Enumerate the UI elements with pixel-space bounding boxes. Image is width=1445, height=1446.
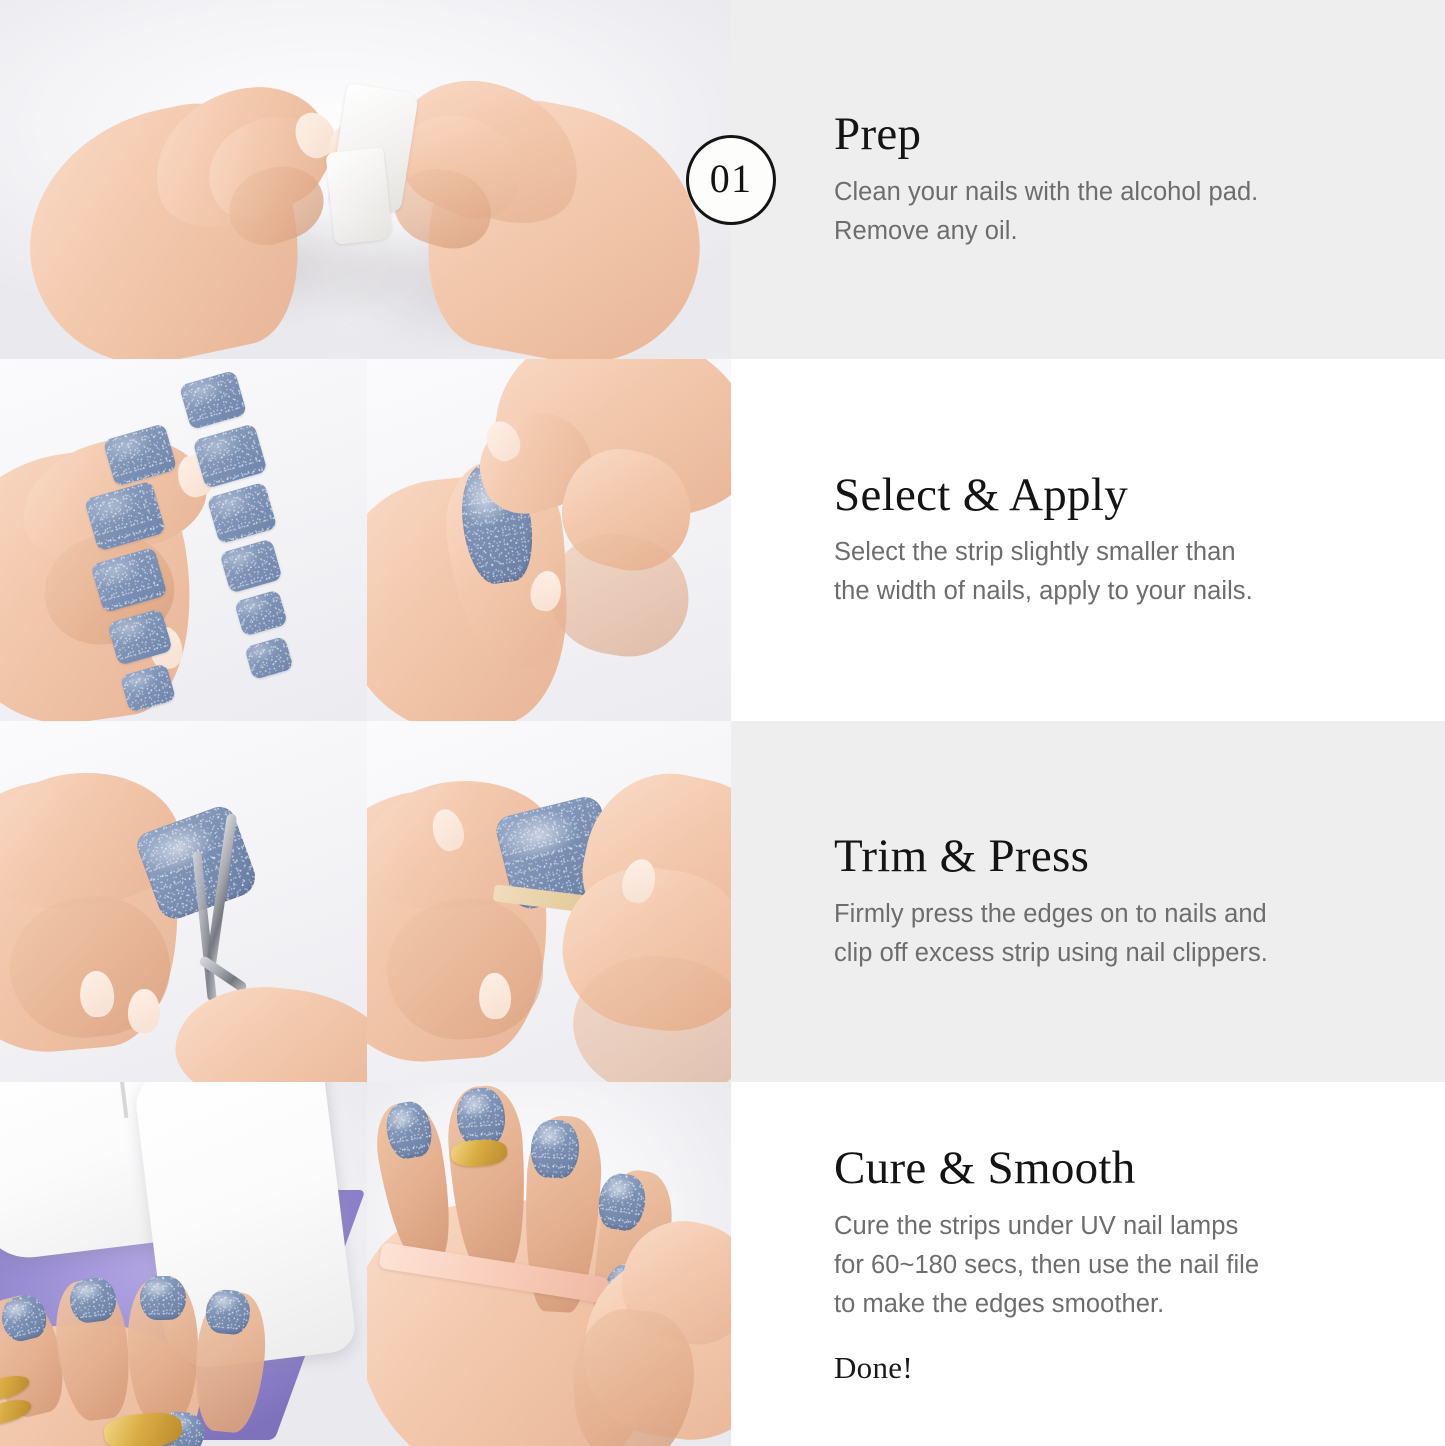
text-column-03: Trim & Press Firmly press the edges on t… <box>731 721 1445 1082</box>
step-description-01: Clean your nails with the alcohol pad. R… <box>834 173 1445 251</box>
step-row-03: 03 Trim & Press Firmly press the edges o… <box>0 721 1445 1082</box>
step-row-01: 01 Prep Clean your nails with the alcoho… <box>0 0 1445 359</box>
photo-nail-file <box>367 1082 731 1446</box>
text-column-02: Select & Apply Select the strip slightly… <box>731 359 1445 721</box>
step-description-02: Select the strip slightly smaller than t… <box>834 533 1445 611</box>
photo-column-02 <box>0 359 731 721</box>
step-row-04: 04 Cure & Smooth Cure the strips under U… <box>0 1082 1445 1446</box>
photo-column-03 <box>0 721 731 1082</box>
step-badge-01: 01 <box>686 135 776 225</box>
photo-press-stick <box>367 721 731 1082</box>
step-title-02: Select & Apply <box>834 469 1445 522</box>
text-column-01: Prep Clean your nails with the alcohol p… <box>731 0 1445 359</box>
step-number-01: 01 <box>710 159 752 199</box>
step-description-03: Firmly press the edges on to nails and c… <box>834 895 1445 973</box>
photo-hands-alcohol-pad <box>0 0 731 359</box>
step-title-03: Trim & Press <box>834 830 1445 883</box>
step-title-01: Prep <box>834 108 1445 161</box>
photo-column-01 <box>0 0 731 359</box>
photo-column-04 <box>0 1082 731 1446</box>
photo-trim-scissors <box>0 721 367 1082</box>
photo-strip-sheet <box>0 359 367 721</box>
photo-apply-strip <box>367 359 731 721</box>
photo-uv-lamp <box>0 1082 367 1446</box>
step-title-04: Cure & Smooth <box>834 1142 1445 1195</box>
step-done-label: Done! <box>834 1350 1445 1386</box>
instruction-infographic: 01 Prep Clean your nails with the alcoho… <box>0 0 1445 1446</box>
text-column-04: Cure & Smooth Cure the strips under UV n… <box>731 1082 1445 1446</box>
step-description-04: Cure the strips under UV nail lamps for … <box>834 1207 1445 1324</box>
step-row-02: 02 Select & Apply Select the strip sligh… <box>0 359 1445 721</box>
